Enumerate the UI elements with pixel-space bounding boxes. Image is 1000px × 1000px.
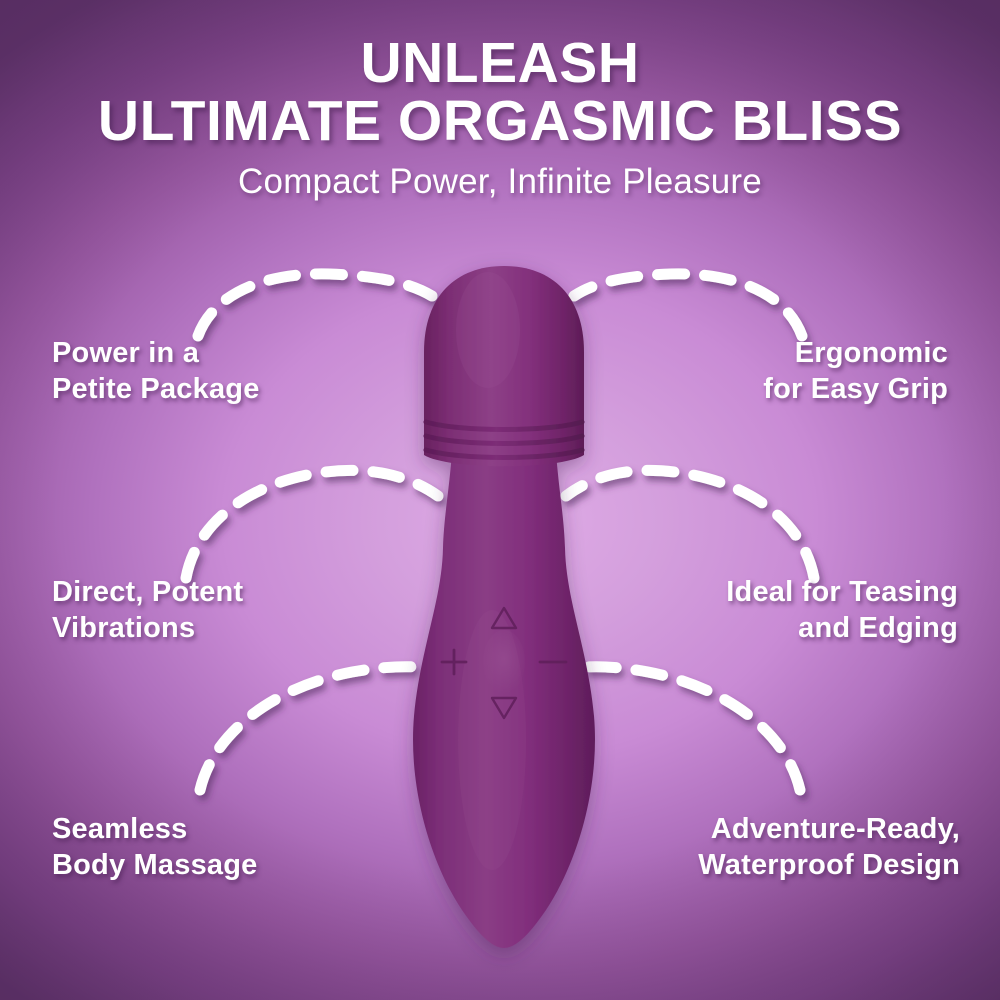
feature-label-line-1: Seamless (52, 812, 257, 848)
feature-direct-potent-vibrations: Direct, Potent Vibrations (52, 575, 243, 646)
feature-label-line-1: Adventure-Ready, (698, 812, 960, 848)
feature-label-line-1: Ergonomic (763, 336, 948, 372)
feature-ideal-for-teasing-and-edging: Ideal for Teasing and Edging (726, 575, 958, 646)
feature-label-line-2: Waterproof Design (698, 848, 960, 884)
feature-label-line-1: Power in a (52, 336, 260, 372)
page-title-line-1: UNLEASH (0, 34, 1000, 92)
feature-label-line-1: Direct, Potent (52, 575, 243, 611)
feature-label-line-2: Vibrations (52, 611, 243, 647)
arc-power-in-a-petite-package (198, 274, 432, 336)
arc-ergonomic-for-easy-grip (574, 274, 802, 336)
arc-seamless-body-massage (200, 667, 448, 790)
feature-label-line-2: Body Massage (52, 848, 257, 884)
infographic-canvas: UNLEASH ULTIMATE ORGASMIC BLISS Compact … (0, 0, 1000, 1000)
page-subtitle: Compact Power, Infinite Pleasure (0, 162, 1000, 202)
feature-ergonomic-for-easy-grip: Ergonomic for Easy Grip (763, 336, 948, 407)
arc-ideal-for-teasing-and-edging (566, 470, 814, 578)
page-title-line-2: ULTIMATE ORGASMIC BLISS (0, 92, 1000, 150)
header: UNLEASH ULTIMATE ORGASMIC BLISS Compact … (0, 34, 1000, 202)
feature-power-in-a-petite-package: Power in a Petite Package (52, 336, 260, 407)
feature-adventure-ready-waterproof-design: Adventure-Ready, Waterproof Design (698, 812, 960, 883)
feature-label-line-2: for Easy Grip (763, 372, 948, 408)
feature-label-line-2: Petite Package (52, 372, 260, 408)
feature-label-line-2: and Edging (726, 611, 958, 647)
arc-adventure-ready-waterproof-design (556, 667, 800, 790)
arc-direct-potent-vibrations (186, 470, 438, 578)
feature-label-line-1: Ideal for Teasing (726, 575, 958, 611)
feature-seamless-body-massage: Seamless Body Massage (52, 812, 257, 883)
